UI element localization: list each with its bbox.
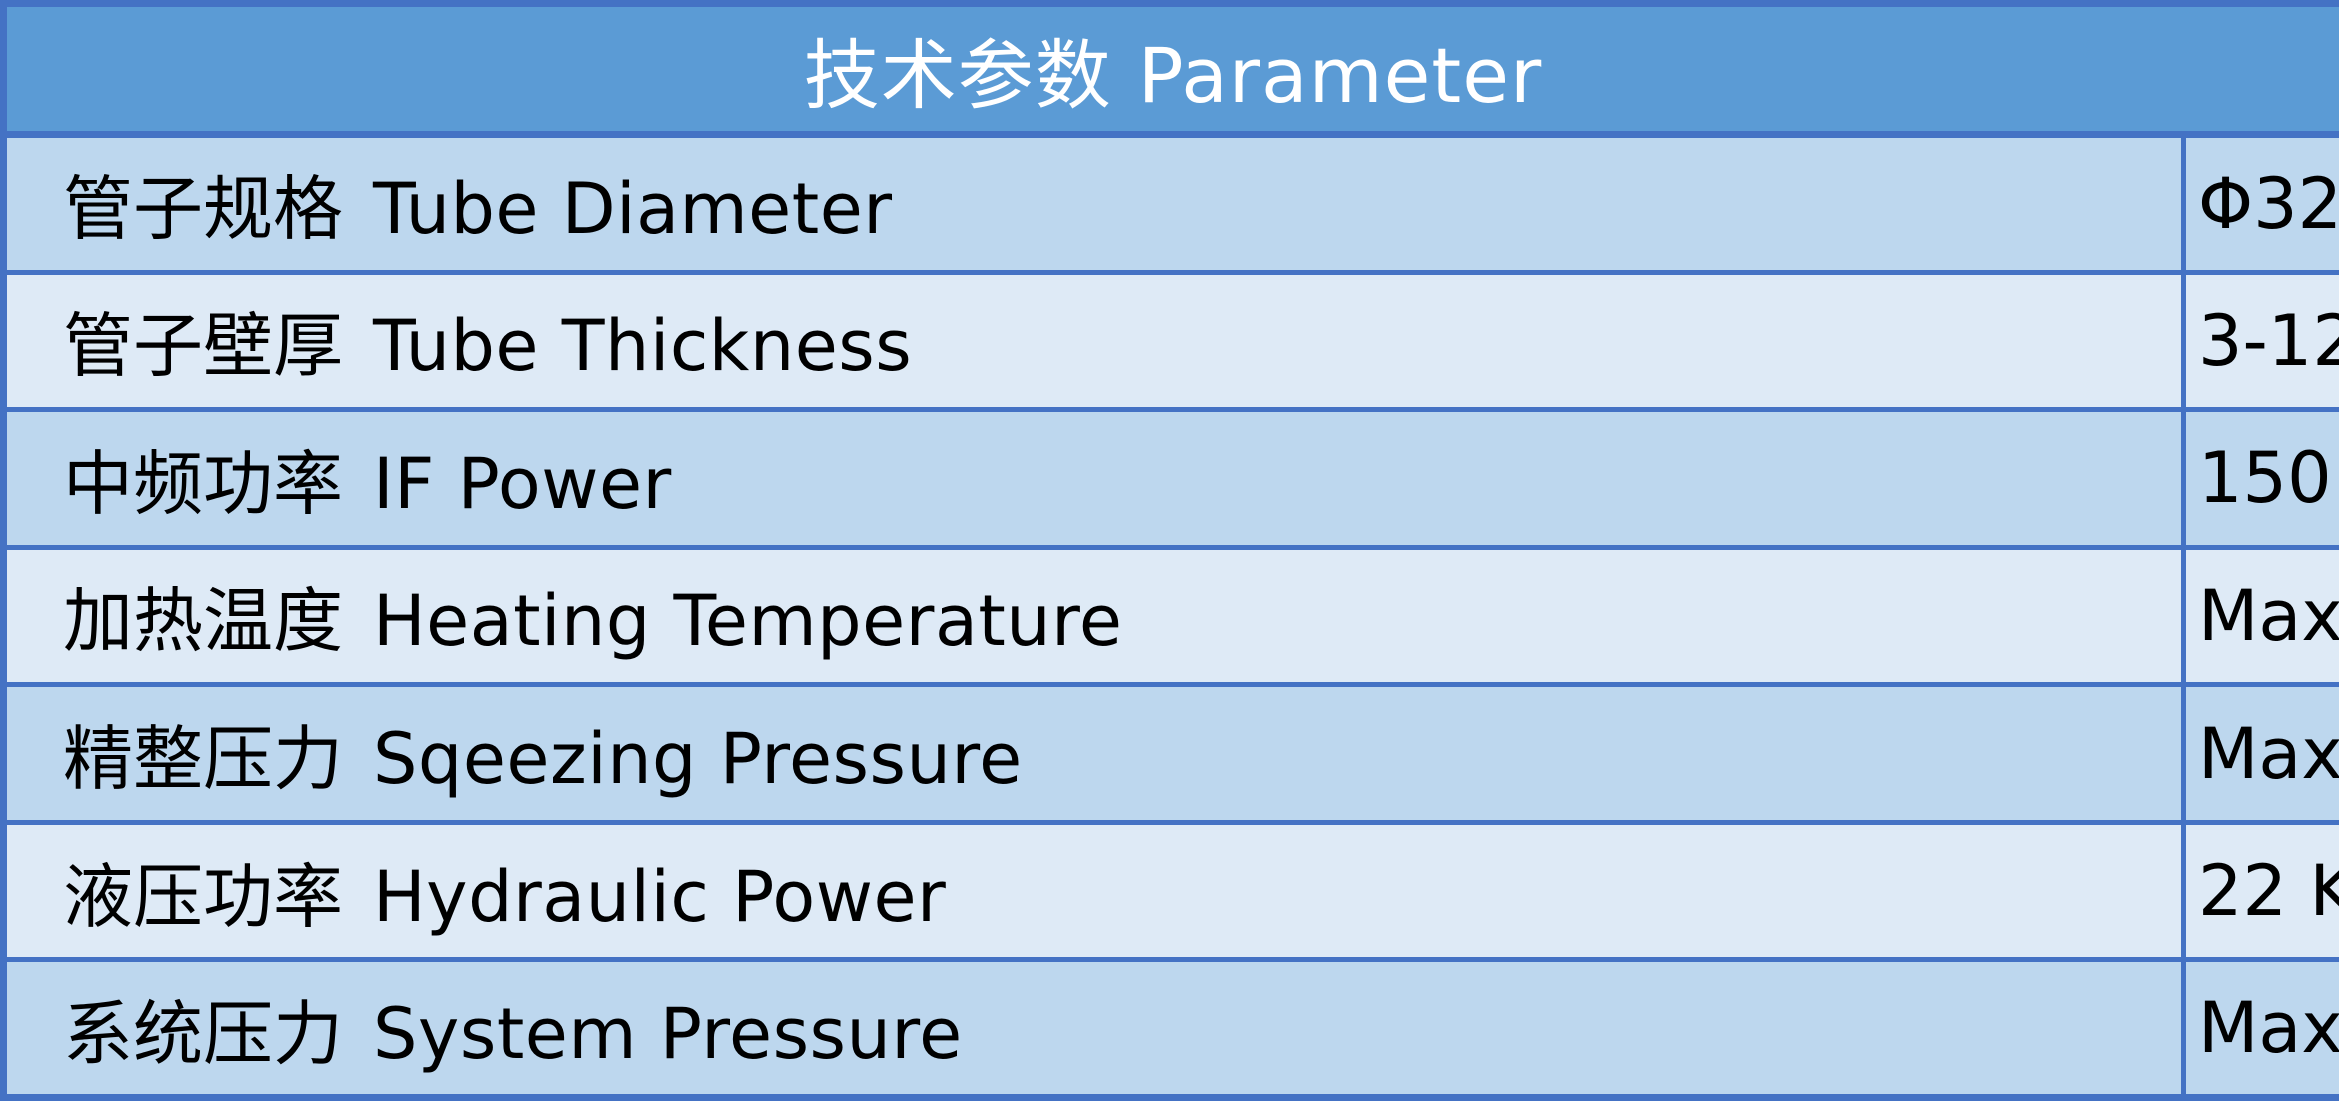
parameter-name-chinese: 加热温度 — [63, 580, 343, 662]
parameter-value-cell: Φ32 ~ Φ76 mm — [2184, 135, 2339, 273]
parameter-name-english: Sqeezing Pressure — [373, 718, 1023, 800]
table-body: 管子规格Tube Diameter Φ32 ~ Φ76 mm 管子壁厚Tube … — [4, 135, 2339, 1098]
parameter-value-cell: Max 10 MPa — [2184, 960, 2339, 1098]
parameter-name-cell: 液压功率Hydraulic Power — [4, 822, 2184, 960]
parameter-name-chinese: 中频功率 — [63, 443, 343, 525]
parameter-value-cell: 22 KW — [2184, 822, 2339, 960]
parameter-name-cell: 中频功率IF Power — [4, 410, 2184, 548]
parameter-name-english: Hydraulic Power — [373, 856, 946, 938]
table-row: 中频功率IF Power 150 KW — [4, 410, 2339, 548]
parameter-name-chinese: 管子规格 — [63, 168, 343, 250]
technical-parameter-table: 技术参数Parameter 管子规格Tube Diameter Φ32 ~ Φ7… — [0, 0, 2339, 1101]
parameter-value-cell: Max 60 T — [2184, 685, 2339, 823]
parameter-name-cell: 管子规格Tube Diameter — [4, 135, 2184, 273]
table-title-cell: 技术参数Parameter — [4, 4, 2339, 135]
parameter-name-chinese: 管子壁厚 — [63, 305, 343, 387]
parameter-value-cell: 150 KW — [2184, 410, 2339, 548]
parameter-name-english: System Pressure — [373, 993, 963, 1075]
parameter-value-cell: Max 1200 °C — [2184, 547, 2339, 685]
parameter-name-chinese: 精整压力 — [63, 718, 343, 800]
table-row: 精整压力Sqeezing Pressure Max 60 T — [4, 685, 2339, 823]
parameter-name-chinese: 液压功率 — [63, 856, 343, 938]
parameter-name-chinese: 系统压力 — [63, 993, 343, 1075]
table-row: 系统压力System Pressure Max 10 MPa — [4, 960, 2339, 1098]
parameter-name-cell: 精整压力Sqeezing Pressure — [4, 685, 2184, 823]
parameter-value-cell: 3-12 mm — [2184, 272, 2339, 410]
table-title-english: Parameter — [1138, 31, 1542, 120]
table-row: 管子规格Tube Diameter Φ32 ~ Φ76 mm — [4, 135, 2339, 273]
table-row: 液压功率Hydraulic Power 22 KW — [4, 822, 2339, 960]
table-header-row: 技术参数Parameter — [4, 4, 2339, 135]
parameter-name-english: Tube Diameter — [373, 168, 893, 250]
parameter-name-cell: 系统压力System Pressure — [4, 960, 2184, 1098]
parameter-name-english: Heating Temperature — [373, 580, 1122, 662]
parameter-name-cell: 加热温度Heating Temperature — [4, 547, 2184, 685]
table-title-chinese: 技术参数 — [804, 31, 1112, 120]
table-row: 加热温度Heating Temperature Max 1200 °C — [4, 547, 2339, 685]
parameter-name-cell: 管子壁厚Tube Thickness — [4, 272, 2184, 410]
parameter-name-english: IF Power — [373, 443, 672, 525]
table-row: 管子壁厚Tube Thickness 3-12 mm — [4, 272, 2339, 410]
parameter-name-english: Tube Thickness — [373, 305, 912, 387]
